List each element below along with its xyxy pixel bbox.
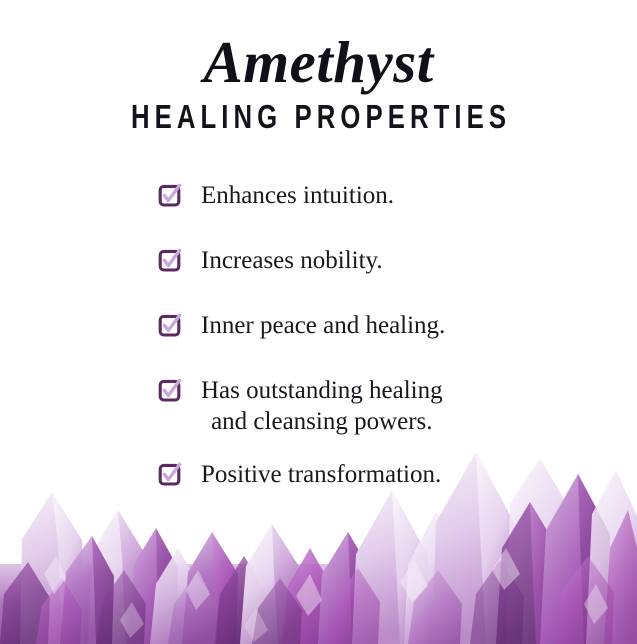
list-item: Inner peace and healing. bbox=[158, 310, 637, 341]
list-item-label: Enhances intuition. bbox=[201, 180, 394, 211]
amethyst-healing-properties-poster: Amethyst HEALING PROPERTIES Enhances int… bbox=[0, 0, 637, 644]
healing-properties-list: Enhances intuition. Increases nobility. … bbox=[0, 180, 637, 490]
checkbox-checked-icon bbox=[158, 248, 182, 272]
checkbox-checked-icon bbox=[158, 183, 182, 207]
list-item: Has outstanding healing and cleansing po… bbox=[158, 375, 637, 437]
list-item-label: Positive transformation. bbox=[201, 459, 441, 490]
list-item: Positive transformation. bbox=[158, 459, 637, 490]
page-subtitle: HEALING PROPERTIES bbox=[70, 98, 567, 136]
list-item-label: Increases nobility. bbox=[201, 245, 383, 276]
list-item-label: Has outstanding healing and cleansing po… bbox=[201, 375, 443, 437]
list-item: Enhances intuition. bbox=[158, 180, 637, 211]
poster-header: Amethyst HEALING PROPERTIES bbox=[0, 0, 637, 136]
checkbox-checked-icon bbox=[158, 313, 182, 337]
list-item-label: Inner peace and healing. bbox=[201, 310, 445, 341]
checkbox-checked-icon bbox=[158, 378, 182, 402]
page-title: Amethyst bbox=[0, 30, 637, 94]
checkbox-checked-icon bbox=[158, 462, 182, 486]
list-item: Increases nobility. bbox=[158, 245, 637, 276]
